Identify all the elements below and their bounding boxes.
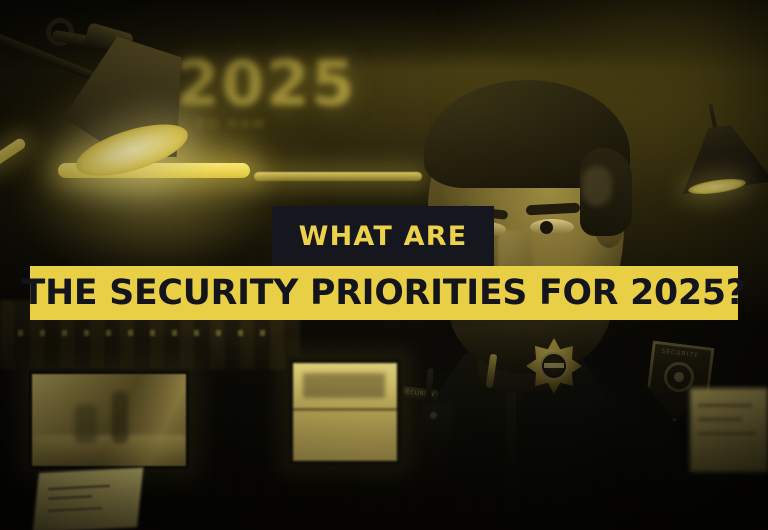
secondary-monitor-divider	[293, 408, 397, 411]
secondary-monitor	[286, 356, 404, 468]
background-monitor-line-1	[698, 404, 752, 407]
guard-temple-highlight	[582, 166, 612, 206]
poster-canvas: 2025 CO NAM	[0, 0, 768, 530]
cctv-footage-person	[112, 391, 128, 443]
cctv-monitor	[26, 368, 192, 472]
kicker-text: WHAT ARE	[299, 221, 468, 252]
background-monitor-line-2	[698, 418, 742, 421]
cctv-footage-floor	[32, 435, 186, 466]
secondary-monitor-screen	[293, 363, 397, 461]
cctv-monitor-screen	[32, 374, 186, 466]
guard-eye-right	[530, 219, 574, 235]
headline-text: THE SECURITY PRIORITIES FOR 2025?	[22, 273, 746, 313]
kicker-box: WHAT ARE	[272, 206, 494, 266]
cctv-footage-object	[75, 405, 97, 443]
secondary-monitor-window	[303, 373, 384, 398]
headline-bar: THE SECURITY PRIORITIES FOR 2025?	[30, 266, 738, 320]
background-monitor-line-3	[698, 432, 756, 435]
background-monitor	[690, 388, 768, 472]
